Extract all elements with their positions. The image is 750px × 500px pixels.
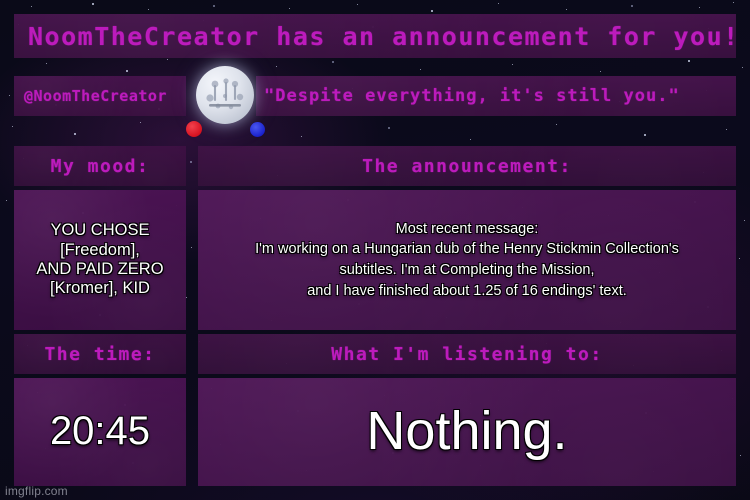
label-the-announcement-text: The announcement: — [362, 156, 572, 177]
quote-bar: "Despite everything, it's still you." — [256, 76, 736, 116]
quote-text: "Despite everything, it's still you." — [264, 86, 680, 106]
label-listening-to: What I'm listening to: — [198, 334, 736, 374]
panel-my-mood: YOU CHOSE[Freedom],AND PAID ZERO[Kromer]… — [14, 190, 186, 330]
panel-the-time: 20:45 — [14, 378, 186, 486]
username-handle-bar: @NoomTheCreator — [14, 76, 186, 116]
label-my-mood-text: My mood: — [51, 156, 150, 177]
label-the-time-text: The time: — [44, 344, 155, 365]
username-handle: @NoomTheCreator — [24, 87, 167, 105]
red-dot-icon — [186, 121, 202, 137]
label-my-mood: My mood: — [14, 146, 186, 186]
panel-the-announcement: Most recent message:I'm working on a Hun… — [198, 190, 736, 330]
label-listening-to-text: What I'm listening to: — [331, 344, 602, 365]
announcement-title-banner: NoomTheCreator has an announcement for y… — [14, 14, 736, 58]
listening-value: Nothing. — [366, 400, 567, 464]
label-the-time: The time: — [14, 334, 186, 374]
panel-listening-to: Nothing. — [198, 378, 736, 486]
imgflip-watermark: imgflip.com — [5, 484, 68, 498]
moon-avatar-icon — [196, 66, 254, 124]
label-the-announcement: The announcement: — [198, 146, 736, 186]
announcement-title: NoomTheCreator has an announcement for y… — [28, 22, 736, 51]
time-value: 20:45 — [50, 408, 150, 455]
mood-value: YOU CHOSE[Freedom],AND PAID ZERO[Kromer]… — [36, 221, 163, 299]
announcement-template: NoomTheCreator has an announcement for y… — [0, 0, 750, 500]
announcement-value: Most recent message:I'm working on a Hun… — [255, 219, 679, 301]
blue-dot-icon — [250, 122, 265, 137]
